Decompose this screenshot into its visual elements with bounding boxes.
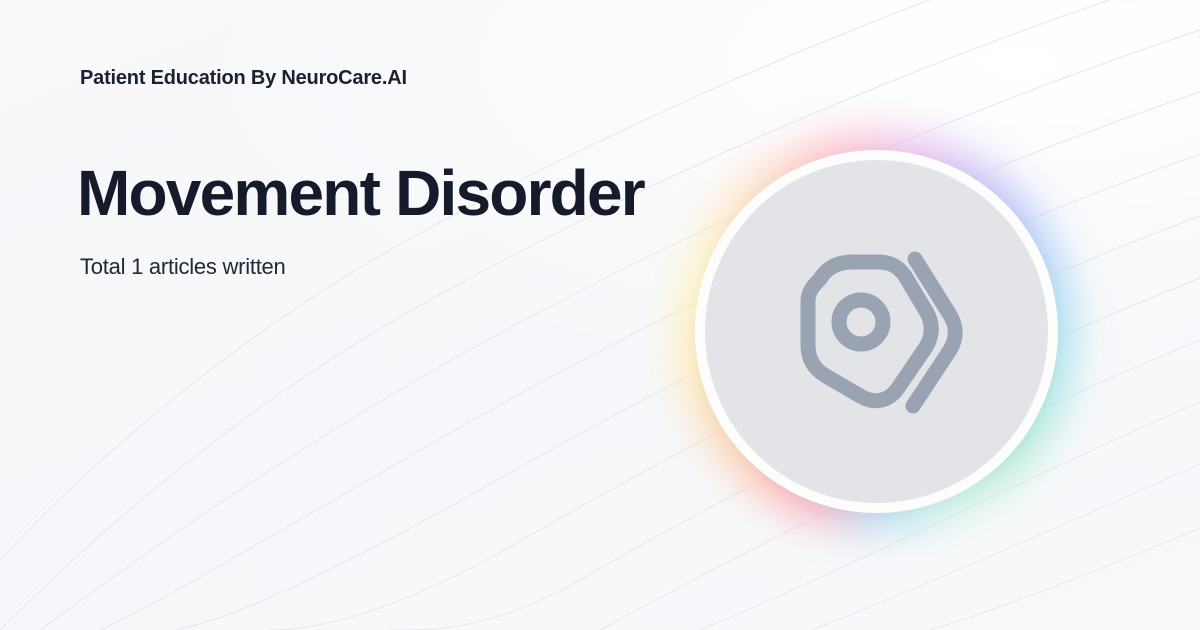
emblem-disc	[705, 160, 1048, 503]
eyebrow-label: Patient Education By NeuroCare.AI	[80, 67, 407, 90]
og-card: Patient Education By NeuroCare.AI Moveme…	[0, 0, 1200, 630]
article-count-label: Total 1 articles written	[80, 254, 286, 280]
brand-emblem	[705, 160, 1048, 503]
neurocare-logo-icon	[782, 243, 972, 421]
page-title: Movement Disorder	[77, 155, 644, 231]
